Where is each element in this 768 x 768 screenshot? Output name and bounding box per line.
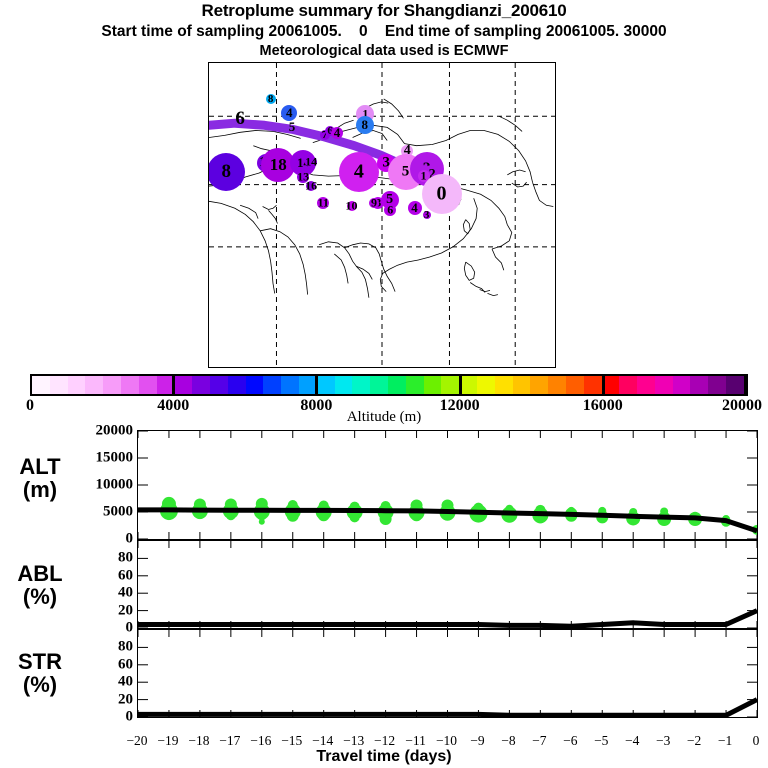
colorbar-divider [745, 374, 748, 396]
colorbar-divider [602, 374, 605, 396]
x-axis-tick-label: −12 [374, 733, 395, 749]
y-axis-tick-label: 20 [0, 691, 139, 708]
colorbar-swatch [566, 376, 584, 394]
y-axis-tick-label: 40 [0, 674, 139, 691]
x-axis-tick-label: −15 [281, 733, 302, 749]
colorbar-divider [315, 374, 318, 396]
colorbar-swatch [228, 376, 246, 394]
y-axis-tick-label: 80 [0, 639, 139, 656]
x-axis-tick-label: −6 [563, 733, 577, 749]
colorbar-swatch [103, 376, 121, 394]
plume-blob [266, 94, 276, 104]
colorbar-swatch [68, 376, 86, 394]
plume-blob [331, 127, 343, 139]
colorbar-swatch [352, 376, 370, 394]
colorbar-swatch [530, 376, 548, 394]
map-coastlines [209, 63, 555, 367]
plume-blob [356, 116, 374, 134]
y-axis-tick-label: 20000 [0, 423, 139, 440]
y-axis-tick-label: 0 [0, 531, 139, 548]
colorbar-swatch [548, 376, 566, 394]
altitude-colorbar[interactable] [30, 374, 746, 396]
colorbar-swatch [477, 376, 495, 394]
str-plot [138, 630, 757, 717]
x-axis-tick-label: −4 [625, 733, 639, 749]
colorbar-swatch [263, 376, 281, 394]
colorbar-swatch [121, 376, 139, 394]
sampling-time-line: Start time of sampling 20061005. 0 End t… [0, 22, 768, 42]
colorbar-swatch [406, 376, 424, 394]
x-axis-tick-label: −3 [656, 733, 670, 749]
x-axis-tick-label: −16 [250, 733, 271, 749]
colorbar-swatch [335, 376, 353, 394]
x-axis-tick-label: −10 [436, 733, 457, 749]
x-axis-tick-label: −9 [470, 733, 484, 749]
retroplume-map[interactable]: 8151814141316111046458764183452210395643 [208, 62, 556, 368]
abl-plot [138, 541, 757, 628]
colorbar-swatch [584, 376, 602, 394]
plume-blob [339, 152, 379, 192]
plume-blob [306, 181, 316, 191]
x-axis-tick-label: −7 [532, 733, 546, 749]
y-axis-tick-label: 60 [0, 656, 139, 673]
x-axis-tick-label: −11 [405, 733, 426, 749]
colorbar-swatch [655, 376, 673, 394]
colorbar-swatch [637, 376, 655, 394]
plume-blob [408, 201, 422, 215]
alt-plot [138, 431, 757, 539]
colorbar-swatch [210, 376, 228, 394]
colorbar-swatch [459, 376, 477, 394]
colorbar-swatch [246, 376, 264, 394]
y-axis-tick-label: 40 [0, 585, 139, 602]
colorbar-swatch [32, 376, 50, 394]
x-axis-tick-label: −17 [219, 733, 240, 749]
y-axis-tick-label: 60 [0, 567, 139, 584]
y-axis-tick-label: 20 [0, 602, 139, 619]
x-axis-tick-label: −19 [157, 733, 178, 749]
colorbar-swatch [388, 376, 406, 394]
plume-blob [347, 201, 357, 211]
y-axis-tick-label: 5000 [0, 504, 139, 521]
colorbar-swatch [708, 376, 726, 394]
x-axis-tick-label: −14 [312, 733, 333, 749]
plume-blob [208, 153, 245, 191]
colorbar-swatch [281, 376, 299, 394]
colorbar-swatch [174, 376, 192, 394]
plume-blob [384, 204, 396, 216]
plume-blob [281, 105, 297, 121]
x-axis-tick-label: −13 [343, 733, 364, 749]
x-axis-tick-label: 0 [753, 733, 760, 749]
x-axis-tick-label: −1 [718, 733, 732, 749]
colorbar-swatch [441, 376, 459, 394]
x-axis-title: Travel time (days) [0, 748, 768, 766]
y-axis-tick-label: 15000 [0, 450, 139, 467]
colorbar-swatch [726, 376, 744, 394]
colorbar-swatch [192, 376, 210, 394]
x-axis-tick-label: −5 [594, 733, 608, 749]
colorbar-swatch [85, 376, 103, 394]
plume-blob [423, 211, 431, 219]
colorbar-swatch [513, 376, 531, 394]
chart-header: Retroplume summary for Shangdianzi_20061… [0, 0, 768, 61]
colorbar-swatch [299, 376, 317, 394]
x-axis-tick-label: −8 [501, 733, 515, 749]
colorbar-divider [459, 374, 462, 396]
page-title: Retroplume summary for Shangdianzi_20061… [0, 0, 768, 22]
colorbar-swatch [317, 376, 335, 394]
colorbar-swatch [50, 376, 68, 394]
plume-blob [317, 197, 329, 209]
abl-panel[interactable] [137, 540, 758, 629]
x-axis-tick-label: −20 [126, 733, 147, 749]
colorbar-swatch [370, 376, 388, 394]
y-axis-tick-label: 0 [0, 709, 139, 726]
colorbar-swatch [495, 376, 513, 394]
str-panel[interactable] [137, 629, 758, 718]
plume-blob [422, 174, 462, 214]
x-axis-tick-label: −18 [188, 733, 209, 749]
x-axis-tick-label: −2 [687, 733, 701, 749]
plume-blob [305, 156, 317, 168]
colorbar-swatch [690, 376, 708, 394]
colorbar-swatch [619, 376, 637, 394]
colorbar-swatch [139, 376, 157, 394]
y-axis-tick-label: 80 [0, 550, 139, 567]
y-axis-tick-label: 10000 [0, 477, 139, 494]
y-axis-tick-label: 0 [0, 620, 139, 637]
plume-blob [369, 198, 379, 208]
alt-panel[interactable] [137, 430, 758, 540]
colorbar-divider [172, 374, 175, 396]
met-data-line: Meteorological data used is ECMWF [0, 42, 768, 61]
colorbar-swatch [424, 376, 442, 394]
colorbar-swatch [673, 376, 691, 394]
